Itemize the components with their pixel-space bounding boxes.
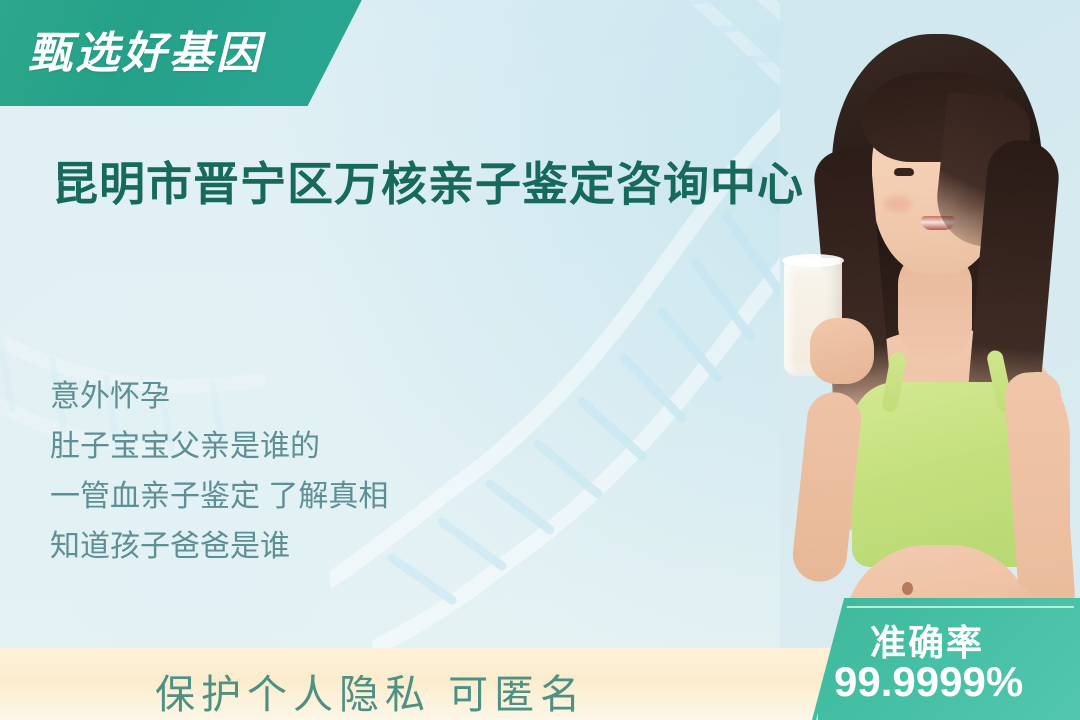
brand-banner: 甄选好基因 (0, 0, 370, 106)
milk-glass-rim (782, 254, 844, 267)
navel (902, 582, 913, 595)
cheek-left (884, 196, 912, 212)
brand-banner-text: 甄选好基因 (28, 17, 263, 81)
copy-line-1: 意外怀孕 (50, 372, 388, 422)
privacy-tagline: 保护个人隐私 可匿名 (155, 662, 586, 720)
promo-banner: 甄选好基因 昆明市晋宁区万核亲子鉴定咨询中心 意外怀孕 肚子宝宝父亲是谁的 一管… (0, 0, 1080, 720)
accuracy-badge-value: 99.9999% (834, 658, 1023, 706)
copy-line-3: 一管血亲子鉴定 了解真相 (50, 472, 388, 522)
marketing-copy: 意外怀孕 肚子宝宝父亲是谁的 一管血亲子鉴定 了解真相 知道孩子爸爸是谁 (50, 372, 388, 572)
model-photo (780, 0, 1080, 660)
copy-line-4: 知道孩子爸爸是谁 (50, 522, 388, 572)
eye-left (894, 168, 914, 176)
hand-holding-glass (810, 318, 874, 384)
accuracy-badge: 准确率 99.9999% (812, 598, 1080, 720)
page-title: 昆明市晋宁区万核亲子鉴定咨询中心 (52, 155, 852, 215)
copy-line-2: 肚子宝宝父亲是谁的 (50, 422, 388, 472)
